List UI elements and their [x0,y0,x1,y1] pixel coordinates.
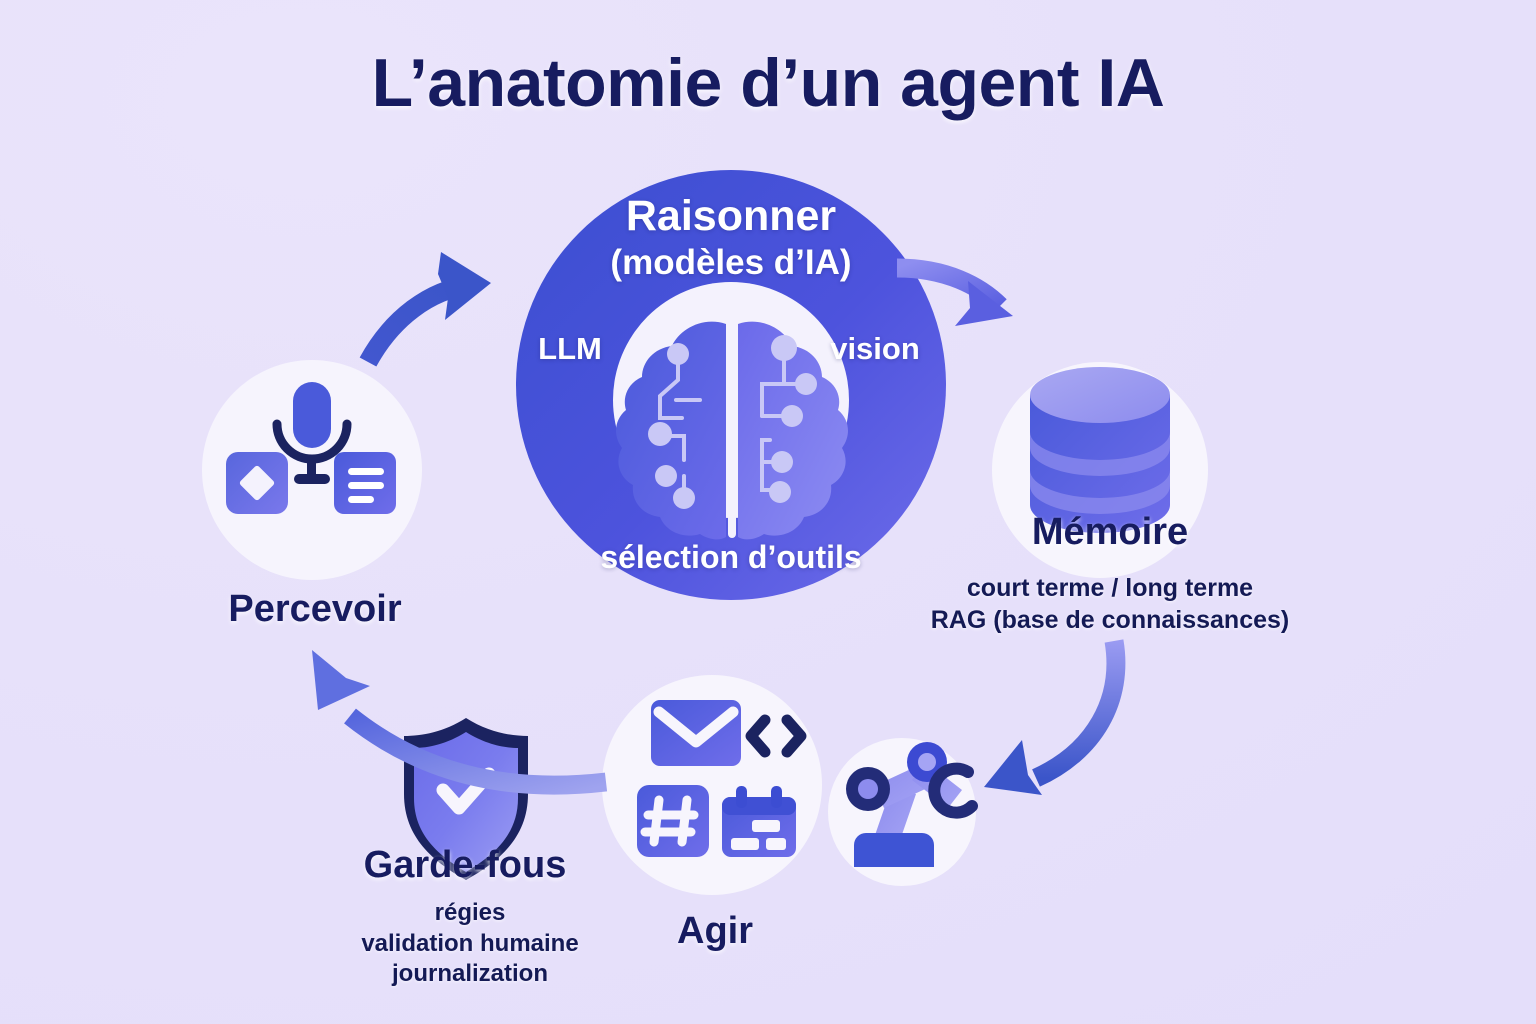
image-icon [226,452,288,514]
page-title: L’anatomie d’un agent IA [0,44,1536,122]
core-tag-llm: LLM [500,331,640,367]
diagram-canvas: L’anatomie d’un agent IA [0,0,1536,1024]
envelope-icon [651,700,741,766]
core-tag-vision: vision [800,331,950,367]
code-brackets-icon [751,720,801,752]
garde-sub-line-3: journalization [235,959,705,990]
arrow-agir-to-percevoir [312,650,606,785]
node-label-memoire[interactable]: Mémoire [900,511,1320,554]
node-sub-garde-fous: régies validation humaine journalization [235,898,705,990]
node-sub-memoire: court terme / long terme RAG (base de co… [860,572,1360,636]
arrow-percevoir-to-raisonner [368,252,491,362]
garde-sub-line-2: validation humaine [235,929,705,960]
calendar-icon [722,786,796,857]
node-label-percevoir[interactable]: Percevoir [100,588,530,631]
percevoir-disc [202,360,422,580]
microphone-icon [277,382,347,484]
memoire-sub-line-2: RAG (base de connaissances) [860,604,1360,636]
arrow-memoire-to-agir [984,641,1116,795]
node-label-garde-fous[interactable]: Garde-fous [230,844,700,887]
garde-sub-line-1: régies [235,898,705,929]
robot-arm-disc [828,738,976,886]
core-title: Raisonner [521,192,941,241]
document-text-icon [334,452,396,514]
core-tag-tools: sélection d’outils [521,539,941,576]
memoire-sub-line-1: court terme / long terme [860,572,1360,604]
core-subtitle: (modèles d’IA) [521,243,941,283]
robot-arm-icon [846,742,972,867]
raisonner-inner-disc [613,282,849,518]
database-cylinder-icon [1030,367,1170,533]
